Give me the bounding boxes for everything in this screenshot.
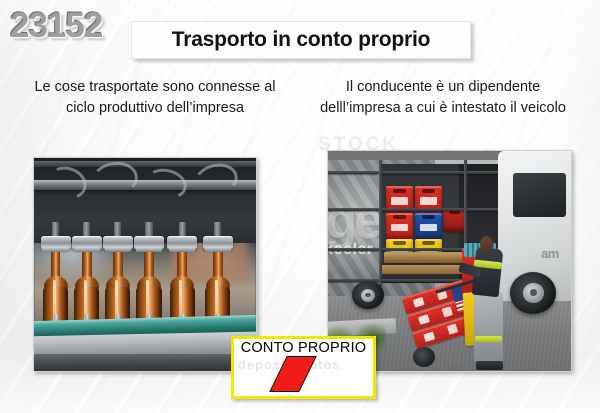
truck-cab-text: am [541, 246, 559, 261]
caption-left: Le cose trasportate sono connesse al cic… [26, 77, 284, 118]
slide-canvas: 23152 Trasporto in conto proprio Le cose… [0, 0, 600, 413]
slide-number: 23152 [10, 8, 102, 43]
bottling-line-scene [34, 158, 256, 371]
caption-right: Il conducente è un dipendente delll’impr… [308, 77, 578, 118]
conto-proprio-sign: CONTO PROPRIO depositphotos [231, 336, 376, 399]
bottling-line-photo [33, 157, 257, 372]
plant-floor [34, 354, 256, 371]
truck-side-post [379, 160, 382, 288]
truck-side-rail [328, 208, 518, 211]
worker-leg-stripe [475, 336, 502, 342]
crate-dark-red [443, 208, 465, 232]
title-box: Trasporto in conto proprio [131, 21, 471, 59]
truck-side-rail [328, 171, 518, 174]
crate-red [386, 213, 413, 239]
wooden-pallet [384, 252, 462, 263]
worker-boots [476, 361, 503, 370]
truck-wheel [352, 281, 384, 310]
crate-blue [415, 213, 442, 239]
wooden-pallet-lower [381, 265, 464, 274]
worker-head [480, 236, 493, 253]
worker-legs [474, 292, 503, 362]
truck-cab-window [513, 173, 566, 217]
page-title: Trasporto in conto proprio [172, 28, 430, 52]
hand-truck-wheel [413, 347, 435, 367]
truck-wheel [510, 272, 556, 314]
sign-label: CONTO PROPRIO [234, 340, 373, 356]
truck-logo-large-text: ge [328, 195, 380, 247]
